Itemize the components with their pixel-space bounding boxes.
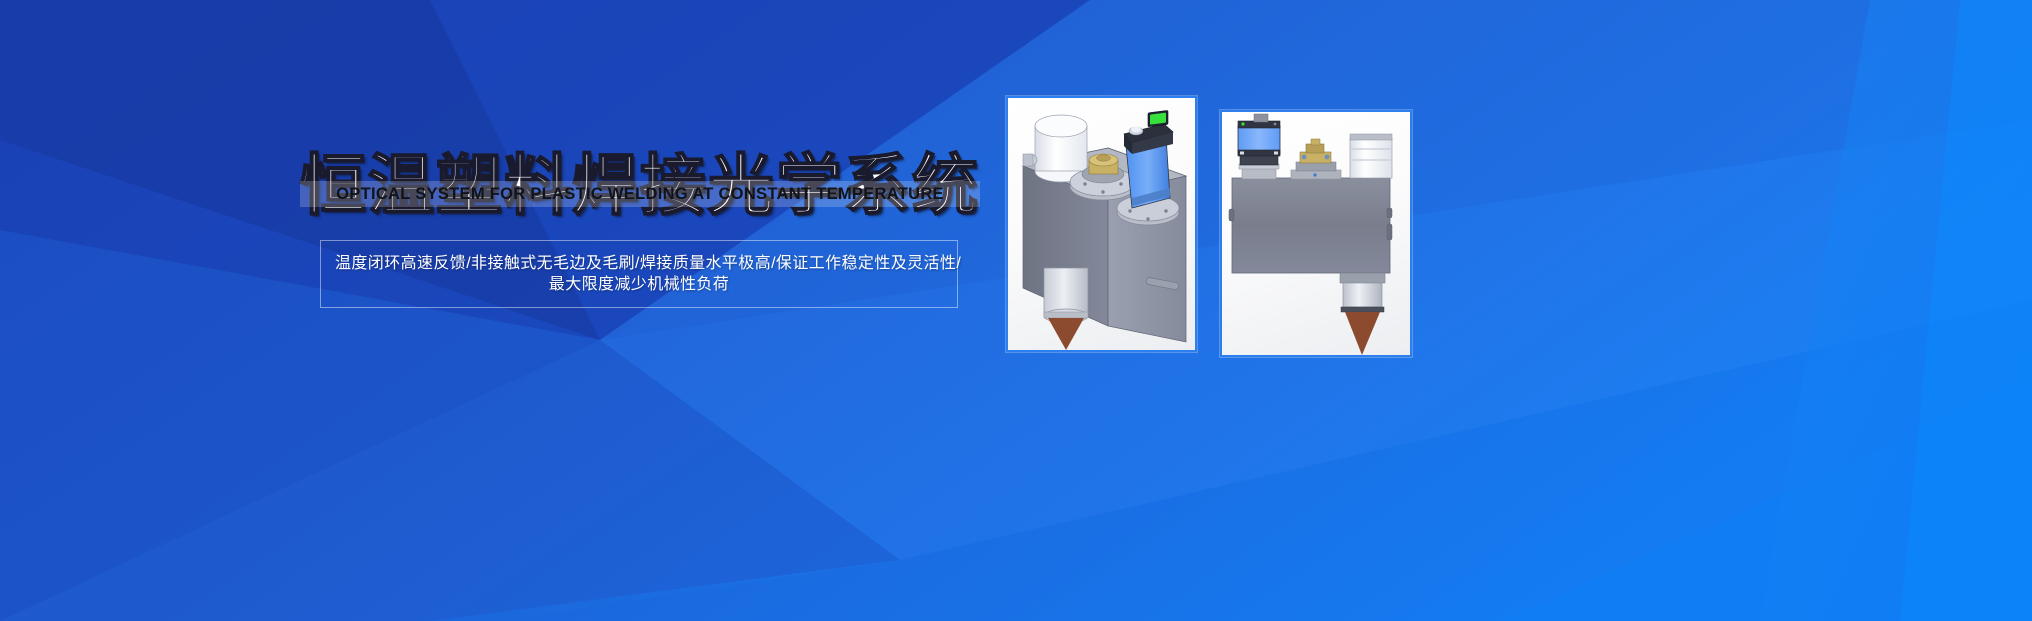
headline-block: 恒温塑料焊接光学系统 OPTICAL SYSTEM FOR PLASTIC WE… bbox=[300, 145, 980, 335]
product-photo-isometric[interactable] bbox=[1006, 96, 1197, 352]
subtitle-box: 温度闭环高速反馈/非接触式无毛边及毛刷/焊接质量水平极高/保证工作稳定性及灵活性… bbox=[320, 240, 958, 308]
product-render-front bbox=[1222, 112, 1410, 355]
product-photo-isometric-canvas bbox=[1008, 98, 1195, 350]
page-title-english: OPTICAL SYSTEM FOR PLASTIC WELDING AT CO… bbox=[300, 183, 980, 205]
title-stack: 恒温塑料焊接光学系统 OPTICAL SYSTEM FOR PLASTIC WE… bbox=[300, 145, 980, 235]
subtitle-line-1: 温度闭环高速反馈/非接触式无毛边及毛刷/焊接质量水平极高/保证工作稳定性及灵活性… bbox=[335, 253, 943, 274]
product-render-isometric bbox=[1008, 98, 1195, 350]
promotional-banner: 恒温塑料焊接光学系统 OPTICAL SYSTEM FOR PLASTIC WE… bbox=[0, 0, 2032, 621]
product-photo-front[interactable] bbox=[1220, 110, 1412, 357]
subtitle-line-2: 最大限度减少机械性负荷 bbox=[335, 274, 943, 295]
product-photo-front-canvas bbox=[1222, 112, 1410, 355]
